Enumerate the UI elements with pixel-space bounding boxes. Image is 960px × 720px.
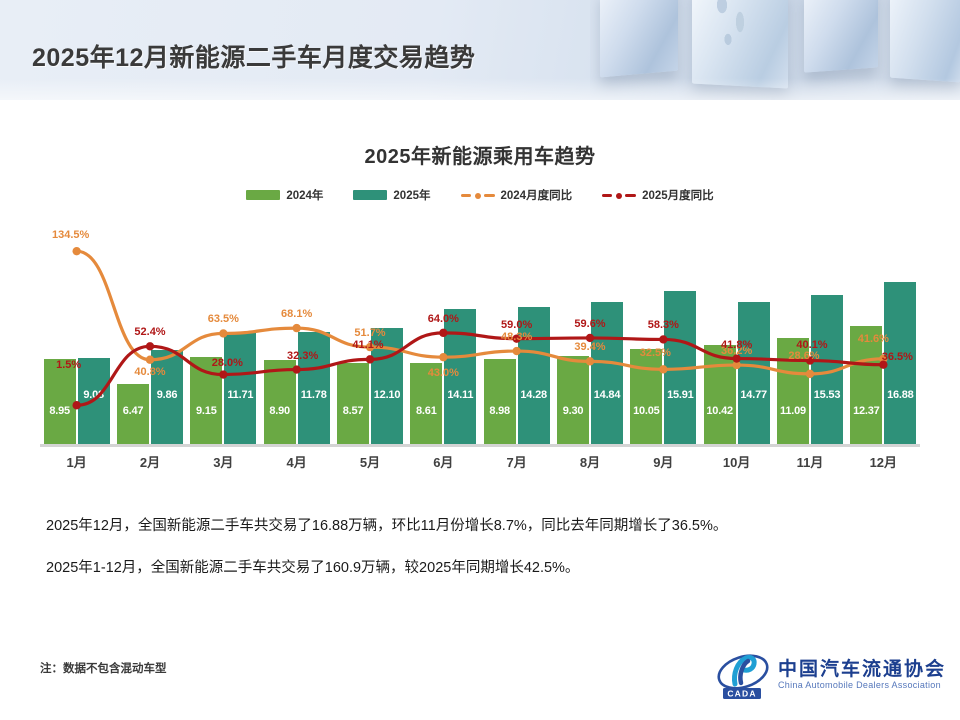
percent-labels-layer: 1月2月3月4月5月6月7月8月9月10月11月12月134.5%40.8%63… bbox=[40, 211, 920, 471]
header-sheen bbox=[0, 78, 960, 100]
footnote: 注：数据不包含混动车型 bbox=[40, 660, 167, 676]
cada-logo-en: China Automobile Dealers Association bbox=[778, 681, 946, 690]
legend-label: 2025月度同比 bbox=[642, 187, 714, 203]
percent-label-2024月度同比-8月: 39.4% bbox=[574, 341, 605, 353]
page-title: 2025年12月新能源二手车月度交易趋势 bbox=[32, 38, 475, 74]
legend-label: 2025年 bbox=[393, 187, 430, 203]
header-banner: 2025年12月新能源二手车月度交易趋势 bbox=[0, 0, 960, 100]
cada-logo-mark-icon: CADA bbox=[717, 650, 769, 700]
percent-label-2025月度同比-2月: 52.4% bbox=[134, 326, 165, 338]
x-axis-tick-5月: 5月 bbox=[333, 452, 406, 471]
summary-line-1: 2025年12月，全国新能源二手车共交易了16.88万辆，环比11月份增长8.7… bbox=[46, 516, 926, 538]
percent-label-2025月度同比-1月: 1.5% bbox=[56, 359, 81, 371]
x-axis-tick-7月: 7月 bbox=[480, 452, 553, 471]
percent-label-2024月度同比-12月: 41.6% bbox=[858, 333, 889, 345]
chart-plot-area: 8.956.479.158.908.578.618.989.3010.0510.… bbox=[40, 211, 920, 471]
x-axis-tick-1月: 1月 bbox=[40, 452, 113, 471]
x-axis-tick-8月: 8月 bbox=[553, 452, 626, 471]
legend-label: 2024月度同比 bbox=[501, 187, 573, 203]
percent-label-2024月度同比-2月: 40.8% bbox=[134, 366, 165, 378]
percent-label-2024月度同比-1月: 134.5% bbox=[52, 229, 89, 241]
percent-label-2025月度同比-7月: 59.0% bbox=[501, 319, 532, 331]
legend-swatch-icon bbox=[246, 190, 280, 200]
percent-label-2024月度同比-7月: 48.3% bbox=[501, 331, 532, 343]
chart-container: 2025年新能源乘用车趋势 2024年2025年2024月度同比2025月度同比… bbox=[0, 112, 960, 492]
cada-logo-abbr: CADA bbox=[727, 689, 756, 699]
x-axis-tick-10月: 10月 bbox=[700, 452, 773, 471]
x-axis-tick-4月: 4月 bbox=[260, 452, 333, 471]
percent-label-2025月度同比-9月: 58.3% bbox=[648, 319, 679, 331]
legend-dashdot-icon bbox=[602, 190, 636, 200]
decor-cube-3 bbox=[804, 0, 878, 73]
percent-label-2025月度同比-11月: 40.1% bbox=[796, 339, 827, 351]
percent-label-2025月度同比-3月: 28.0% bbox=[212, 357, 243, 369]
percent-label-2024月度同比-5月: 51.7% bbox=[354, 327, 385, 339]
slide-page: 2025年12月新能源二手车月度交易趋势 2025年新能源乘用车趋势 2024年… bbox=[0, 0, 960, 720]
percent-label-2024月度同比-3月: 63.5% bbox=[208, 313, 239, 325]
percent-label-2024月度同比-4月: 68.1% bbox=[281, 308, 312, 320]
summary-line-2: 2025年1-12月，全国新能源二手车共交易了160.9万辆，较2025年同期增… bbox=[46, 558, 926, 580]
percent-label-2025月度同比-5月: 41.1% bbox=[352, 339, 383, 351]
decor-cube-4 bbox=[890, 0, 960, 82]
cada-logo-cn: 中国汽车流通协会 bbox=[778, 660, 946, 679]
legend-item-1: 2024年 bbox=[246, 187, 323, 203]
chart-legend: 2024年2025年2024月度同比2025月度同比 bbox=[0, 187, 960, 203]
x-axis-tick-12月: 12月 bbox=[847, 452, 920, 471]
legend-item-2: 2025年 bbox=[353, 187, 430, 203]
x-axis-tick-3月: 3月 bbox=[187, 452, 260, 471]
percent-label-2024月度同比-11月: 28.6% bbox=[788, 350, 819, 362]
percent-label-2025月度同比-6月: 64.0% bbox=[428, 313, 459, 325]
legend-dashdot-icon bbox=[461, 190, 495, 200]
legend-item-3: 2024月度同比 bbox=[461, 187, 573, 203]
percent-label-2024月度同比-6月: 43.0% bbox=[428, 367, 459, 379]
legend-item-4: 2025月度同比 bbox=[602, 187, 714, 203]
decor-cube-2 bbox=[692, 0, 788, 89]
percent-label-2024月度同比-9月: 32.5% bbox=[640, 347, 671, 359]
world-map-icon bbox=[710, 0, 758, 55]
cada-logo-text: 中国汽车流通协会 China Automobile Dealers Associ… bbox=[778, 660, 946, 690]
decor-cube-1 bbox=[600, 0, 678, 77]
summary-text: 2025年12月，全国新能源二手车共交易了16.88万辆，环比11月份增长8.7… bbox=[46, 516, 926, 600]
percent-label-2025月度同比-12月: 36.5% bbox=[882, 351, 913, 363]
percent-label-2025月度同比-4月: 32.3% bbox=[287, 350, 318, 362]
x-axis-tick-11月: 11月 bbox=[773, 452, 846, 471]
percent-label-2025月度同比-8月: 59.6% bbox=[574, 318, 605, 330]
x-axis-tick-9月: 9月 bbox=[627, 452, 700, 471]
cada-logo: CADA 中国汽车流通协会 China Automobile Dealers A… bbox=[717, 650, 946, 700]
x-axis-tick-2月: 2月 bbox=[113, 452, 186, 471]
legend-swatch-icon bbox=[353, 190, 387, 200]
chart-title: 2025年新能源乘用车趋势 bbox=[0, 140, 960, 169]
x-axis-tick-6月: 6月 bbox=[407, 452, 480, 471]
legend-label: 2024年 bbox=[286, 187, 323, 203]
percent-label-2025月度同比-10月: 41.8% bbox=[721, 339, 752, 351]
